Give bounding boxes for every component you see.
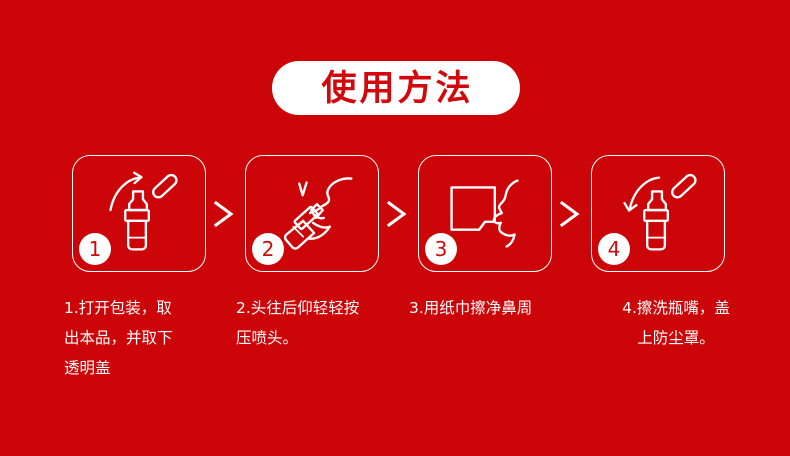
step-caption-4: 4.擦洗瓶嘴，盖 上防尘罩。 bbox=[588, 293, 764, 353]
step-caption-4-line-2: 上防尘罩。 bbox=[588, 323, 764, 353]
step-box-1: 1 bbox=[72, 155, 206, 272]
step-badge-3: 3 bbox=[425, 233, 457, 265]
step-caption-4-line-1: 4.擦洗瓶嘴，盖 bbox=[588, 293, 764, 323]
chevron-right-icon bbox=[384, 199, 410, 229]
page-title: 使用方法 bbox=[318, 71, 473, 106]
step-caption-3-line-1: 3.用纸巾擦净鼻周 bbox=[409, 293, 585, 323]
step-box-4: 4 bbox=[591, 155, 725, 272]
step-caption-1-line-3: 透明盖 bbox=[64, 353, 240, 383]
step-box-2: 2 bbox=[245, 155, 379, 272]
chevron-right-icon bbox=[211, 199, 237, 229]
step-box-3: 3 bbox=[418, 155, 552, 272]
captions-row: 1.打开包装，取 出本品，并取下 透明盖 2.头往后仰轻轻按 压喷头。 3.用纸… bbox=[0, 293, 790, 403]
step-caption-2: 2.头往后仰轻轻按 压喷头。 bbox=[236, 293, 412, 353]
step-badge-4: 4 bbox=[598, 233, 630, 265]
page-title-pill: 使用方法 bbox=[272, 61, 520, 115]
step-caption-1-line-1: 1.打开包装，取 bbox=[64, 293, 240, 323]
step-badge-1: 1 bbox=[79, 233, 111, 265]
step-badge-2: 2 bbox=[252, 233, 284, 265]
step-caption-2-line-1: 2.头往后仰轻轻按 bbox=[236, 293, 412, 323]
step-caption-2-line-2: 压喷头。 bbox=[236, 323, 412, 353]
chevron-right-icon bbox=[557, 199, 583, 229]
step-caption-1: 1.打开包装，取 出本品，并取下 透明盖 bbox=[64, 293, 240, 383]
step-caption-1-line-2: 出本品，并取下 bbox=[64, 323, 240, 353]
step-caption-3: 3.用纸巾擦净鼻周 bbox=[409, 293, 585, 323]
steps-strip: 1 2 bbox=[0, 155, 790, 285]
